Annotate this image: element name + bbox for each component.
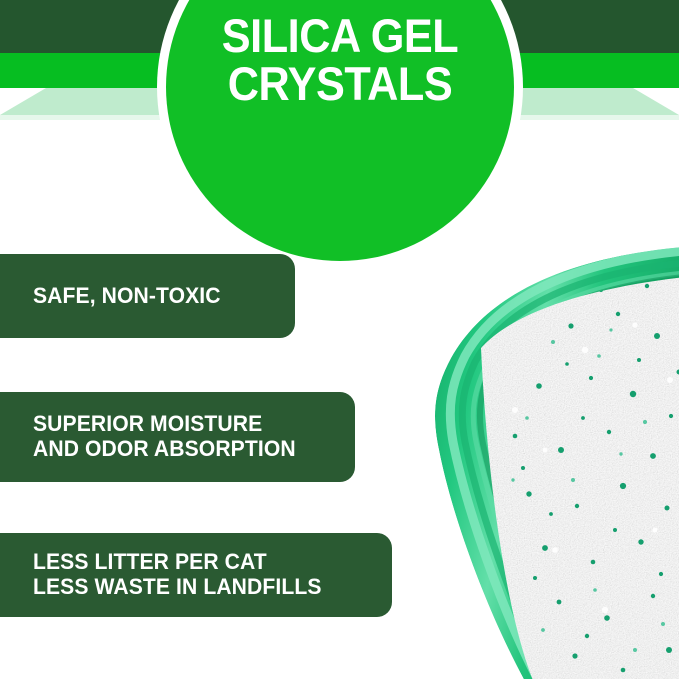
product-infographic: SILICA GEL CRYSTALS SAFE, NON-TOXIC SUPE… [0, 0, 679, 679]
feature-line: LESS WASTE IN LANDFILLS [33, 575, 360, 600]
feature-line: SAFE, NON-TOXIC [33, 284, 267, 309]
feature-box-safe-non-toxic: SAFE, NON-TOXIC [0, 254, 295, 338]
feature-line: AND ODOR ABSORPTION [33, 437, 325, 462]
feature-box-superior-absorption: SUPERIOR MOISTURE AND ODOR ABSORPTION [0, 392, 355, 482]
badge-title-line-1: SILICA GEL [222, 9, 458, 62]
feature-box-less-litter-less-waste: LESS LITTER PER CAT LESS WASTE IN LANDFI… [0, 533, 392, 617]
badge-title-line-2: CRYSTALS [172, 60, 509, 108]
feature-line: SUPERIOR MOISTURE [33, 412, 325, 437]
product-title-badge: SILICA GEL CRYSTALS [157, 0, 523, 270]
badge-title: SILICA GEL CRYSTALS [172, 12, 509, 108]
feature-line: LESS LITTER PER CAT [33, 550, 360, 575]
